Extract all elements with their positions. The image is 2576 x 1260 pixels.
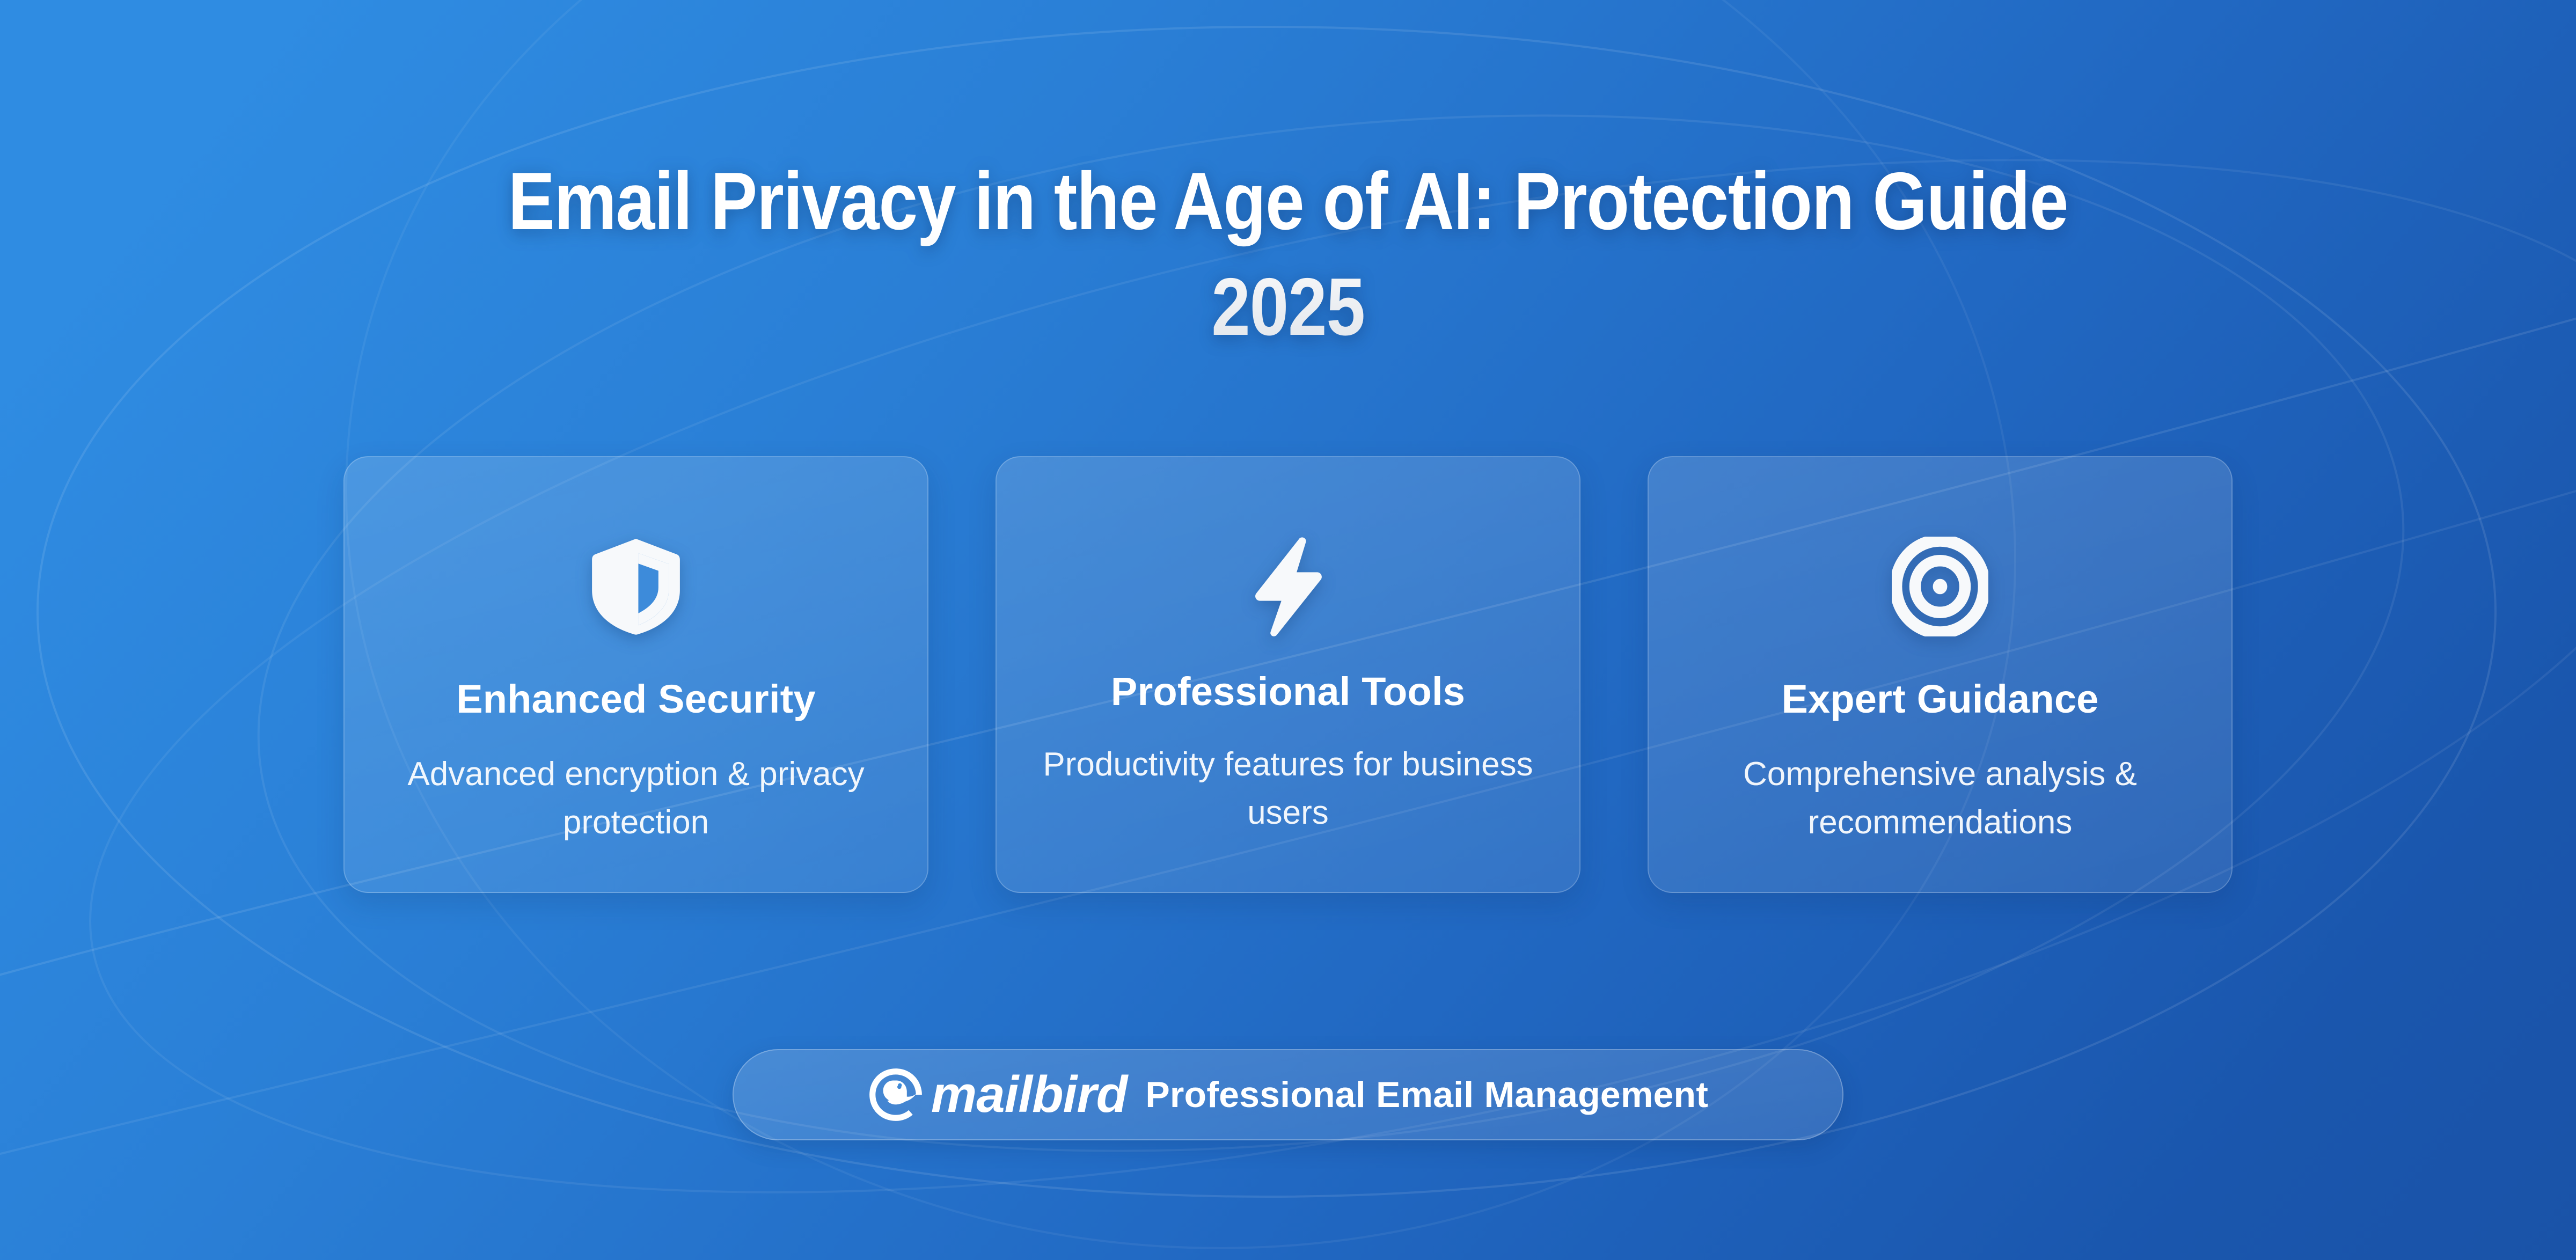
feature-card-professional-tools[interactable]: Professional Tools Productivity features… [996,456,1580,893]
feature-card-description: Comprehensive analysis & recommendations [1682,750,2198,847]
mailbird-bird-icon [868,1067,924,1123]
feature-card-description: Productivity features for business users [1030,741,1546,838]
brand-footer-badge[interactable]: mailbird Professional Email Management [733,1049,1843,1140]
page-title-container: Email Privacy in the Age of AI: Protecti… [0,94,2576,415]
feature-card-title: Enhanced Security [456,678,816,720]
shield-icon [588,537,684,636]
feature-cards-row: Enhanced Security Advanced encryption & … [343,456,2233,893]
mailbird-wordmark: mailbird [931,1069,1127,1120]
page-title: Email Privacy in the Age of AI: Protecti… [489,149,2087,361]
feature-card-title: Expert Guidance [1781,678,2098,720]
feature-card-description: Advanced encryption & privacy protection [378,750,894,847]
target-icon [1892,537,1988,636]
hero-banner: Email Privacy in the Age of AI: Protecti… [0,0,2576,1260]
feature-card-title: Professional Tools [1111,671,1465,713]
lightning-bolt-icon [1251,537,1325,636]
feature-card-enhanced-security[interactable]: Enhanced Security Advanced encryption & … [343,456,928,893]
feature-card-expert-guidance[interactable]: Expert Guidance Comprehensive analysis &… [1648,456,2233,893]
mailbird-logo: mailbird [868,1067,1127,1123]
brand-tagline: Professional Email Management [1145,1076,1708,1113]
